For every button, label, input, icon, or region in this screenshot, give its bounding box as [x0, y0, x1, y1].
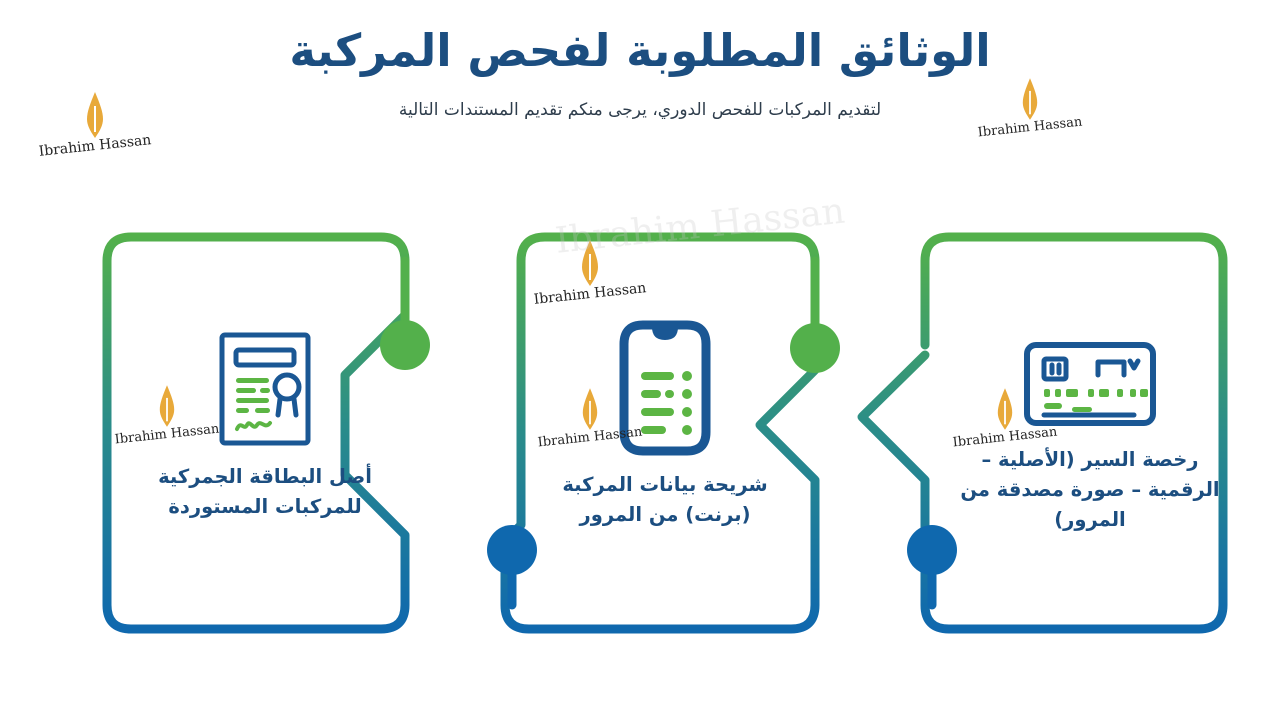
documents-diagram: أصل البطاقة الجمركية للمركبات المستوردة …: [0, 225, 1280, 655]
page-subtitle: لتقديم المركبات للفحص الدوري، يرجى منكم …: [0, 79, 1280, 123]
card-2-dot-blue: [487, 525, 537, 575]
card-2[interactable]: شريحة بيانات المركبة (برنت) من المرور: [530, 320, 800, 530]
id-card-icon: [1022, 335, 1158, 431]
page-title: الوثائق المطلوبة لفحص المركبة: [0, 0, 1280, 79]
card-2-label: شريحة بيانات المركبة (برنت) من المرور: [530, 456, 800, 530]
document-seal-icon: [217, 330, 313, 448]
card-3-label: رخصة السير (الأصلية – الرقمية – صورة مصد…: [945, 431, 1235, 536]
card-1[interactable]: أصل البطاقة الجمركية للمركبات المستوردة: [120, 330, 410, 522]
page-header: الوثائق المطلوبة لفحص المركبة لتقديم الم…: [0, 0, 1280, 123]
card-1-label: أصل البطاقة الجمركية للمركبات المستوردة: [120, 448, 410, 522]
mobile-checklist-icon: [619, 320, 711, 456]
watermark-name: Ibrahim Hassan: [10, 129, 181, 163]
card-3[interactable]: رخصة السير (الأصلية – الرقمية – صورة مصد…: [945, 335, 1235, 536]
